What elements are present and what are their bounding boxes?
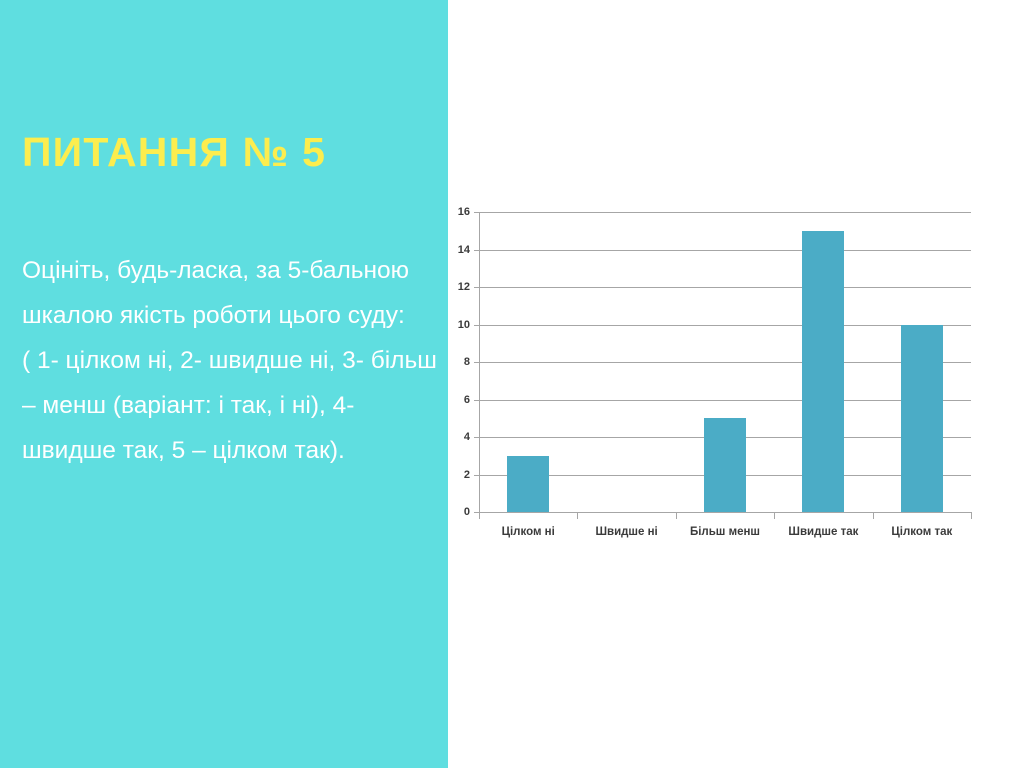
y-axis-tick-label: 10 [458, 319, 470, 331]
gridline-8 [479, 362, 971, 363]
y-tick-mark-12 [474, 287, 479, 288]
y-axis-tick-label: 0 [464, 506, 470, 518]
gridline-16 [479, 212, 971, 213]
left-panel: ПИТАННЯ № 5 Оцініть, будь-ласка, за 5-ба… [0, 0, 448, 768]
y-tick-mark-16 [474, 212, 479, 213]
gridline-12 [479, 287, 971, 288]
y-tick-mark-8 [474, 362, 479, 363]
bar-chart: 0246810121416 Цілком ніШвидше ніБільш ме… [448, 0, 1024, 768]
y-axis-tick-label: 2 [464, 469, 470, 481]
x-tick-mark [676, 512, 677, 519]
x-axis-category-label: Більш менш [690, 526, 760, 538]
x-axis-category-label: Цілком ні [502, 526, 555, 538]
bar-5 [901, 325, 943, 513]
y-tick-mark-4 [474, 437, 479, 438]
question-text: Оцініть, будь-ласка, за 5-бальною шкалою… [22, 248, 454, 473]
plot-area: 0246810121416 Цілком ніШвидше ніБільш ме… [479, 212, 971, 512]
y-axis-tick-label: 4 [464, 431, 470, 443]
y-axis-tick-label: 6 [464, 394, 470, 406]
x-tick-mark [971, 512, 972, 519]
page-title: ПИТАННЯ № 5 [22, 131, 442, 174]
bar-1 [507, 456, 549, 512]
bar-3 [704, 418, 746, 512]
bar-4 [802, 231, 844, 512]
x-tick-mark [577, 512, 578, 519]
y-axis-tick-label: 8 [464, 356, 470, 368]
x-axis-category-label: Цілком так [891, 526, 952, 538]
x-tick-mark [873, 512, 874, 519]
y-axis-tick-label: 12 [458, 281, 470, 293]
y-tick-mark-10 [474, 325, 479, 326]
x-tick-mark [479, 512, 480, 519]
y-tick-mark-2 [474, 475, 479, 476]
y-tick-mark-6 [474, 400, 479, 401]
x-axis-category-label: Швидше так [788, 526, 858, 538]
gridline-10 [479, 325, 971, 326]
gridline-0 [479, 512, 971, 513]
gridline-6 [479, 400, 971, 401]
y-tick-mark-14 [474, 250, 479, 251]
x-tick-mark [774, 512, 775, 519]
slide: ПИТАННЯ № 5 Оцініть, будь-ласка, за 5-ба… [0, 0, 1024, 768]
x-axis-category-label: Швидше ні [595, 526, 657, 538]
gridline-14 [479, 250, 971, 251]
y-axis-tick-label: 16 [458, 206, 470, 218]
y-axis-tick-label: 14 [458, 244, 470, 256]
